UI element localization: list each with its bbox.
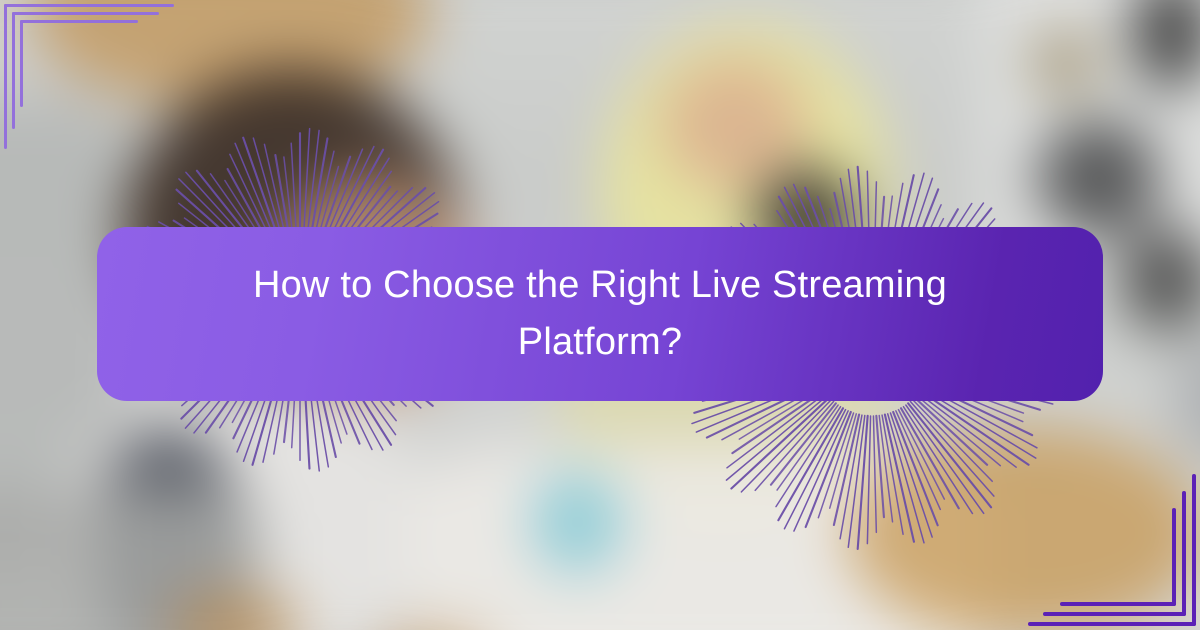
corner-frame-tl-vertical-1	[4, 4, 7, 149]
corner-frame-tl-vertical-2	[12, 12, 15, 129]
photo-blob-skin	[662, 57, 808, 191]
corner-frame-bottom-right	[1000, 430, 1200, 630]
corner-frame-tl-horizontal-3	[20, 20, 138, 23]
corner-frame-br-vertical-1	[1192, 474, 1196, 626]
photo-blob-shelf-object-2	[1031, 29, 1098, 96]
corner-frame-br-vertical-2	[1182, 491, 1186, 616]
banner-canvas: How to Choose the Right Live Streaming P…	[0, 0, 1200, 630]
corner-frame-tl-horizontal-1	[4, 4, 174, 7]
corner-frame-tl-vertical-3	[20, 20, 23, 107]
corner-frame-br-vertical-3	[1172, 508, 1176, 606]
corner-frame-br-horizontal-2	[1043, 612, 1186, 616]
corner-frame-top-left	[0, 0, 200, 200]
corner-frame-br-horizontal-1	[1028, 622, 1196, 626]
page-title: How to Choose the Right Live Streaming P…	[187, 257, 1013, 371]
corner-frame-tl-horizontal-2	[12, 12, 159, 15]
photo-blob-shelf-object-4	[1121, 225, 1200, 331]
corner-frame-br-horizontal-3	[1060, 602, 1176, 606]
title-banner: How to Choose the Right Live Streaming P…	[97, 227, 1103, 401]
photo-blob-shelf-object-3	[1037, 119, 1160, 237]
photo-blob-teal-item	[533, 472, 623, 573]
